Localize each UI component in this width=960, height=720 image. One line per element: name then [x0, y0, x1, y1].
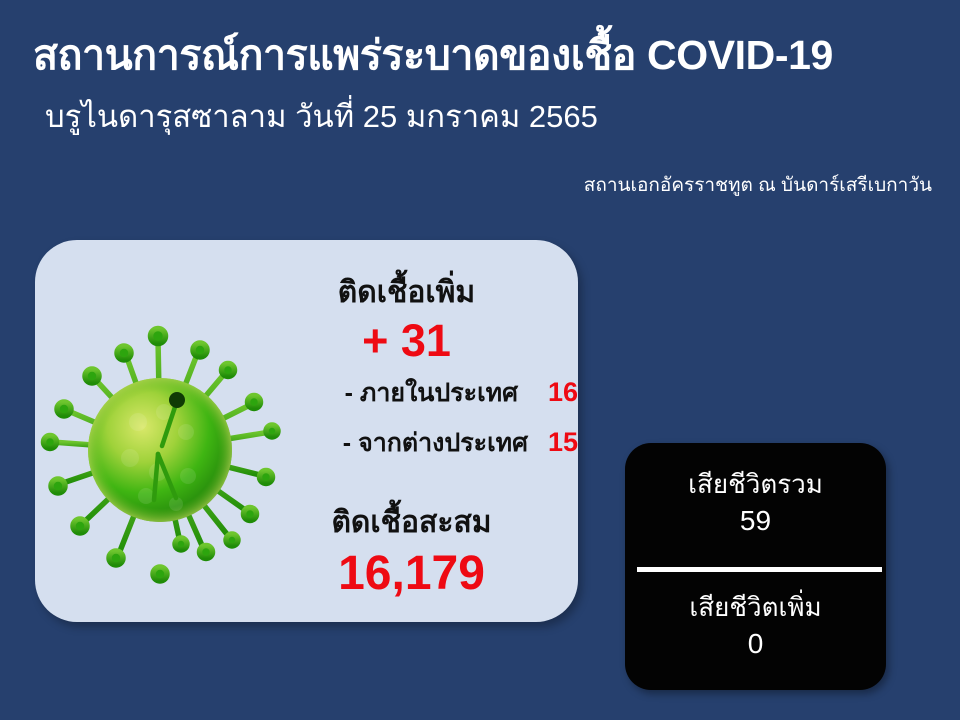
breakdown-row-domestic: - ภายในประเทศ 16: [285, 378, 578, 408]
page-title: สถานการณ์การแพร่ระบาดของเชื้อ COVID-19: [33, 34, 833, 77]
breakdown-row-imported: - จากต่างประเทศ 15: [285, 428, 578, 458]
total-cases-label: ติดเชื้อสะสม: [285, 506, 538, 539]
breakdown-label-imported: - จากต่างประเทศ: [343, 430, 528, 458]
new-deaths-label: เสียชีวิตเพิ่ม: [625, 593, 886, 623]
issuer-attribution: สถานเอกอัครราชทูต ณ บันดาร์เสรีเบกาวัน: [584, 170, 932, 200]
deaths-divider: [637, 567, 882, 572]
total-deaths-value: 59: [625, 505, 886, 537]
breakdown-value-domestic: 16: [532, 378, 578, 408]
coronavirus-icon: [30, 300, 290, 590]
country-date-subtitle: บรูไนดารุสซาลาม วันที่ 25 มกราคม 2565: [45, 99, 598, 135]
cases-card: ติดเชื้อเพิ่ม + 31 - ภายในประเทศ 16 - จา…: [35, 240, 578, 622]
header-banner: สถานการณ์การแพร่ระบาดของเชื้อ COVID-19 บ…: [0, 0, 960, 215]
deaths-total-cell: เสียชีวิตรวม 59: [625, 470, 886, 537]
new-cases-label: ติดเชื้อเพิ่ม: [285, 276, 528, 309]
cases-text-block: ติดเชื้อเพิ่ม + 31 - ภายในประเทศ 16 - จา…: [285, 240, 578, 622]
total-deaths-label: เสียชีวิตรวม: [625, 470, 886, 500]
total-cases-value: 16,179: [285, 548, 538, 601]
new-deaths-value: 0: [625, 628, 886, 660]
deaths-box: เสียชีวิตรวม 59 เสียชีวิตเพิ่ม 0: [625, 443, 886, 690]
deaths-new-cell: เสียชีวิตเพิ่ม 0: [625, 593, 886, 660]
breakdown-value-imported: 15: [532, 428, 578, 458]
breakdown-label-domestic: - ภายในประเทศ: [345, 380, 518, 408]
new-cases-value: + 31: [285, 316, 528, 366]
